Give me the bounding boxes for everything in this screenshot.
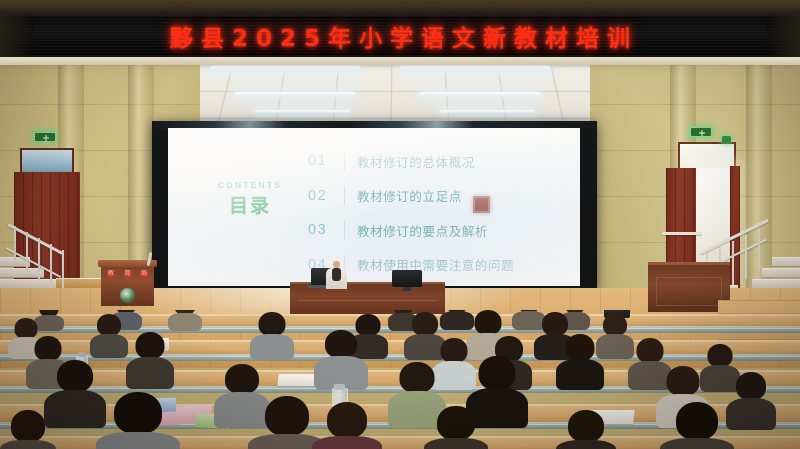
- monitor: [392, 270, 422, 287]
- contents-label-en: CONTENTS: [196, 180, 304, 190]
- presentation-slide: CONTENTS 目录 01 教材修订的总体概况 02 教材修订的立足点 03: [168, 128, 580, 286]
- audience-member: [250, 312, 294, 358]
- ceiling-light-tube: [255, 110, 350, 113]
- presenter: [325, 257, 347, 289]
- rail-post: [38, 238, 40, 280]
- toc-divider: [344, 152, 345, 171]
- audience-member: [90, 314, 128, 356]
- toc-item-number: 01: [308, 153, 342, 169]
- exit-lamp-right: [722, 136, 731, 143]
- ceiling-light-tube: [235, 92, 355, 96]
- laser-pointer-square-icon: [473, 196, 490, 213]
- podium-char: 育: [124, 270, 132, 278]
- slide-section-label: CONTENTS 目录: [196, 180, 304, 218]
- wall-strip-below-banner: [0, 57, 800, 65]
- ceiling-light-tube: [400, 66, 550, 71]
- podium-emblem: [120, 288, 135, 303]
- podium-char: 教: [107, 270, 115, 278]
- audience-member: [96, 392, 180, 449]
- audience-member: [168, 310, 202, 328]
- toc-item-text: 教材使用中需要注意的问题: [357, 255, 514, 274]
- bottle-cap: [334, 384, 345, 390]
- toc-divider: [344, 221, 345, 240]
- transom-window-left: [20, 148, 74, 174]
- slide-table-of-contents: 01 教材修订的总体概况 02 教材修订的立足点 03 教材修订的要点及解析 0…: [308, 144, 576, 282]
- rail-post: [745, 235, 747, 279]
- led-banner-edge-left: [0, 14, 34, 57]
- lecture-hall-photo: CONTENTS 目录 01 教材修订的总体概况 02 教材修订的立足点 03: [0, 0, 800, 449]
- toc-item: 02 教材修订的立足点: [308, 179, 576, 214]
- audience-member: [660, 402, 734, 449]
- exit-sign-left: [34, 132, 56, 142]
- podium-char: 局: [140, 270, 148, 278]
- rail-post: [14, 226, 16, 264]
- podium: 教 育 局: [101, 264, 154, 306]
- bottle-cap: [78, 352, 86, 357]
- podium-characters: 教 育 局: [107, 270, 148, 278]
- ceiling-light-tube: [420, 92, 540, 96]
- handout-paper: [277, 374, 318, 386]
- rail-post: [50, 244, 52, 288]
- toc-item: 03 教材修订的要点及解析: [308, 213, 576, 248]
- toc-item: 04 教材使用中需要注意的问题: [308, 248, 576, 283]
- audience-member: [424, 406, 488, 449]
- ceiling-light-tube: [440, 110, 535, 113]
- handrail-mid-right: [662, 232, 702, 235]
- toc-item-number: 03: [308, 222, 342, 238]
- ceiling-light-tube: [210, 66, 360, 71]
- contents-label-cn: 目录: [196, 191, 304, 218]
- audience-member: [556, 410, 616, 449]
- toc-item-number: 02: [308, 188, 342, 204]
- wall-top-strip: [0, 0, 800, 14]
- rail-post: [732, 241, 734, 285]
- audience-member: [312, 402, 382, 449]
- toc-item-text: 教材修订的立足点: [357, 186, 462, 205]
- rail-post: [758, 229, 760, 271]
- audience-member: [0, 410, 56, 449]
- toc-item-text: 教材修订的总体概况: [357, 152, 475, 171]
- toc-item-text: 教材修订的要点及解析: [357, 221, 488, 240]
- audience-member: [556, 334, 604, 388]
- exit-sign-right: [690, 127, 712, 137]
- audience-member: [126, 332, 174, 388]
- audience-member: [314, 330, 368, 388]
- rail-post: [26, 232, 28, 272]
- led-banner-edge-right: [766, 14, 800, 57]
- audience-seating: [0, 310, 800, 449]
- monitor-stand: [403, 287, 411, 291]
- led-banner-text: 黟县2025年小学语文新教材培训: [162, 19, 638, 53]
- projection-screen: CONTENTS 目录 01 教材修订的总体概况 02 教材修订的立足点 03: [152, 121, 597, 291]
- toc-item: 01 教材修订的总体概况: [308, 144, 576, 179]
- transom-window-right: [678, 142, 736, 170]
- toc-divider: [344, 186, 345, 205]
- led-banner: 黟县2025年小学语文新教材培训: [0, 14, 800, 57]
